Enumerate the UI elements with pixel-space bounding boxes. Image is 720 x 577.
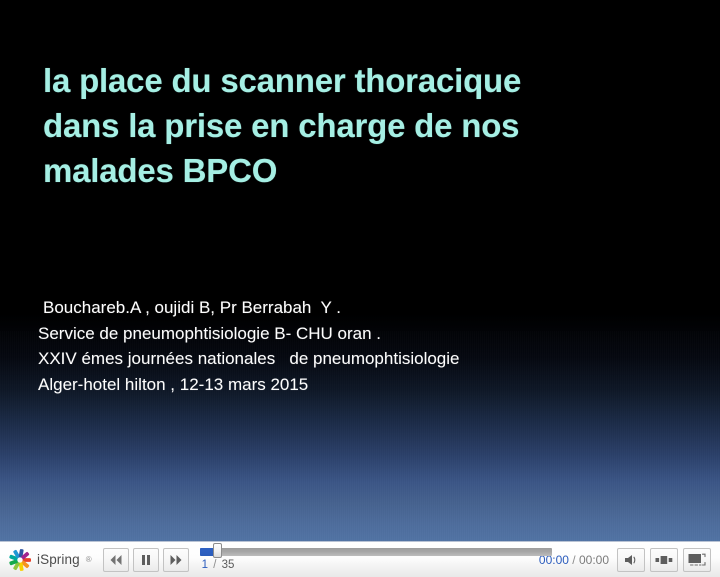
slide-body-text: Bouchareb.A , oujidi B, Pr Berrabah Y . … (38, 295, 678, 397)
volume-button[interactable] (617, 548, 645, 572)
ispring-brand: iSpring ® (8, 548, 92, 572)
next-button[interactable] (163, 548, 189, 572)
slide-counter-current: 1 (202, 559, 208, 571)
previous-button[interactable] (103, 548, 129, 572)
ispring-logo-icon (8, 548, 32, 572)
time-total: 00:00 (579, 553, 609, 567)
transport-controls (103, 548, 189, 572)
pause-button[interactable] (133, 548, 159, 572)
slide-title: la place du scanner thoracique dans la p… (43, 58, 643, 193)
fullscreen-button[interactable] (683, 548, 711, 572)
slide-body-line-service: Service de pneumophtisiologie B- CHU ora… (38, 321, 678, 347)
slide-body-line-event: XXIV émes journées nationales de pneumop… (38, 346, 678, 372)
time-separator: / (572, 553, 575, 567)
ispring-presentation-player: la place du scanner thoracique dans la p… (0, 0, 720, 577)
slide-body-line-authors: Bouchareb.A , oujidi B, Pr Berrabah Y . (38, 295, 678, 321)
progress-fill (200, 548, 214, 556)
slide-counter: 1 / 35 (202, 559, 235, 571)
progress-track[interactable] (200, 548, 552, 556)
slide-canvas[interactable]: la place du scanner thoracique dans la p… (0, 0, 720, 541)
progress-handle[interactable] (213, 543, 222, 558)
layout-button[interactable] (650, 548, 678, 572)
ispring-brand-name: iSpring (37, 552, 80, 567)
slide-body-line-venue: Alger-hotel hilton , 12-13 mars 2015 (38, 372, 678, 398)
player-toolbar: iSpring ® (0, 541, 720, 577)
slide-counter-total: 35 (222, 559, 235, 571)
slide-counter-separator: / (213, 559, 216, 571)
ispring-registered-mark: ® (86, 555, 92, 564)
slide-progress-area: 1 / 35 (200, 546, 539, 574)
player-right-buttons (617, 548, 711, 572)
